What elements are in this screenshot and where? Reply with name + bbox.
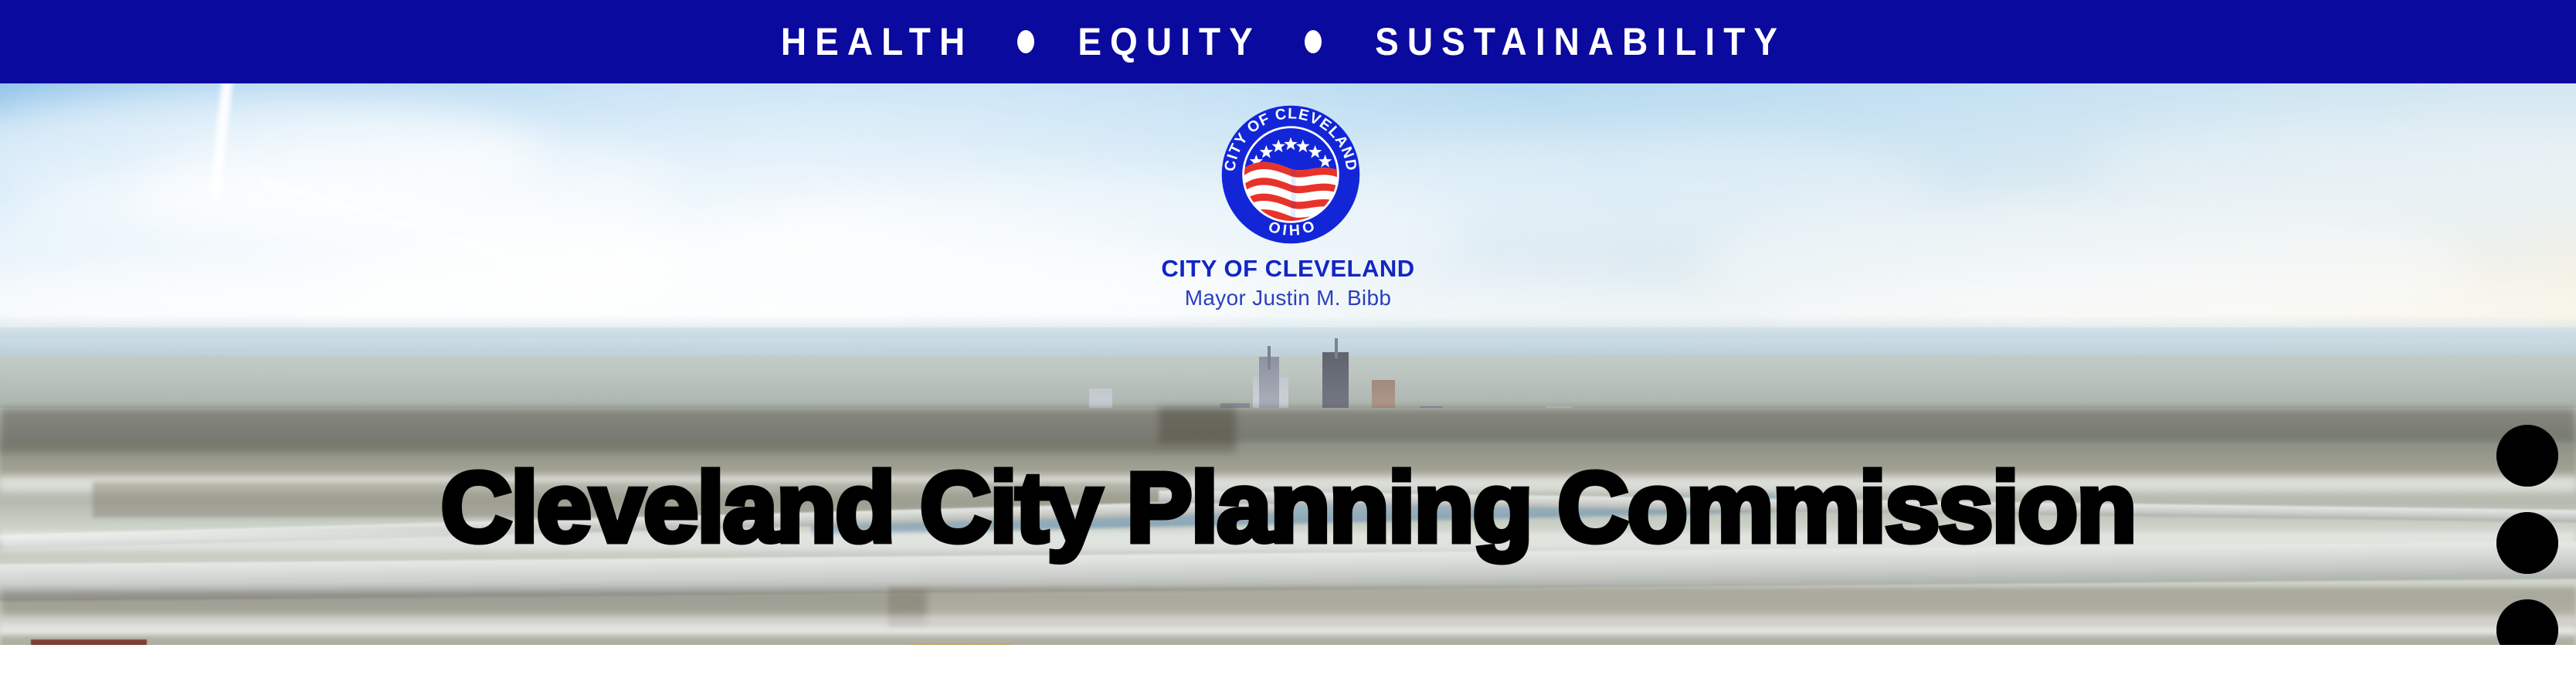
org-name: CITY OF CLEVELAND	[0, 255, 2576, 283]
tagline-word-health: HEALTH	[781, 22, 973, 61]
hero-photo: CITY OF CLEVELAND OHIO CITY OF CLEVELAND…	[0, 83, 2576, 645]
instagram-icon[interactable]	[2496, 512, 2558, 574]
page-root: HEALTH EQUITY SUSTAINABILITY	[0, 0, 2576, 682]
tree-belt	[1159, 408, 2576, 443]
youtube-icon[interactable]	[2496, 425, 2558, 487]
house	[31, 640, 147, 645]
dot-separator-icon	[1305, 30, 1322, 53]
dot-separator-icon	[1017, 30, 1034, 53]
facebook-icon[interactable]	[2496, 599, 2558, 645]
mayor-name: Mayor Justin M. Bibb	[0, 286, 2576, 310]
tagline-banner: HEALTH EQUITY SUSTAINABILITY	[0, 0, 2576, 83]
tagline-word-sustainability: SUSTAINABILITY	[1375, 22, 1786, 61]
city-of-cleveland-seal-icon: CITY OF CLEVELAND OHIO	[1219, 102, 1363, 247]
page-title: Cleveland City Planning Commission	[0, 459, 2576, 558]
terminal-tower-spire	[1268, 346, 1271, 369]
tagline-word-equity: EQUITY	[1078, 22, 1261, 61]
key-tower-spire	[1335, 338, 1338, 358]
social-media-links	[2496, 425, 2560, 645]
house	[911, 644, 1012, 645]
neighborhood-row	[0, 635, 2576, 645]
